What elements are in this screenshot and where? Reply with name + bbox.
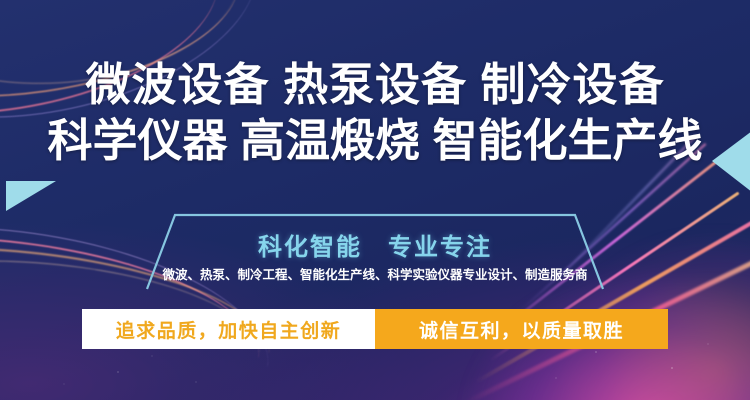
subtitle-block: 科化智能专业专注: [0, 227, 750, 262]
slogan-pill-integrity[interactable]: 诚信互利，以质量取胜: [375, 309, 668, 349]
cyan-triangle-left-icon: [6, 181, 56, 211]
subtitle-right: 专业专注: [388, 234, 492, 261]
subtitle-left: 科化智能: [258, 234, 362, 261]
slogan-row: 追求品质，加快自主创新 诚信互利，以质量取胜: [82, 309, 668, 349]
promo-banner: 微波设备 热泵设备 制冷设备 科学仪器 高温煅烧 智能化生产线 科化智能专业专注…: [0, 0, 750, 400]
descriptor-text: 微波、热泵、制冷工程、智能化生产线、科学实验仪器专业设计、制造服务商: [0, 264, 750, 283]
slogan-pill-quality[interactable]: 追求品质，加快自主创新: [82, 309, 375, 349]
headline-block: 微波设备 热泵设备 制冷设备 科学仪器 高温煅烧 智能化生产线: [0, 62, 750, 163]
headline-line-1: 微波设备 热泵设备 制冷设备: [0, 62, 750, 107]
headline-line-2: 科学仪器 高温煅烧 智能化生产线: [0, 118, 750, 163]
